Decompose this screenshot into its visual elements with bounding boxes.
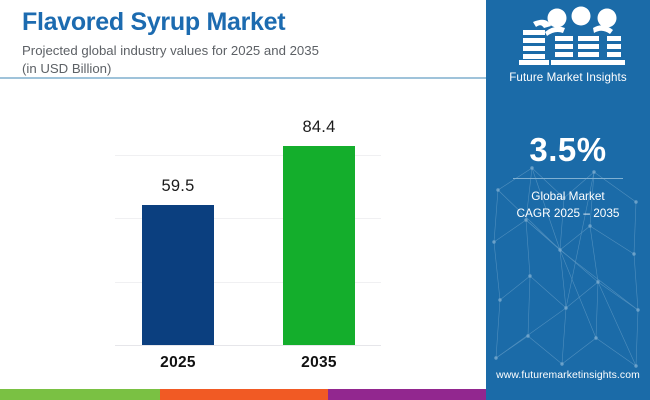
fmi-logo: Future Market Insights [486,6,650,84]
bar-label-2035: 2035 [283,354,355,372]
footer-segment-green [0,389,160,400]
cagr-caption-line-1: Global Market [486,188,650,205]
footer-segment-orange [160,389,328,400]
footer-color-bar [0,389,650,400]
footer-segment-purple [328,389,486,400]
cagr-value: 3.5% [486,133,650,166]
cagr-block: 3.5% Global Market CAGR 2025 – 2035 [486,133,650,222]
chart-baseline [115,345,381,346]
footer-segment-blue [486,389,650,400]
website-url[interactable]: www.futuremarketinsights.com [486,370,650,381]
cagr-divider [513,178,623,179]
left-panel: Flavored Syrup Market Projected global i… [0,0,486,389]
fmi-logo-icon [507,6,629,68]
cagr-caption-line-2: CAGR 2025 – 2035 [486,205,650,222]
bar-label-2025: 2025 [142,354,214,372]
fmi-logo-wordmark: Future Market Insights [486,71,650,84]
bar-group-2025: 59.5 2025 [142,205,214,345]
header: Flavored Syrup Market Projected global i… [22,8,472,77]
page-subtitle: Projected global industry values for 202… [22,42,472,77]
infographic-root: Flavored Syrup Market Projected global i… [0,0,650,400]
bar-2025[interactable] [142,205,214,345]
subtitle-line-1: Projected global industry values for 202… [22,42,472,60]
subtitle-line-2: (in USD Billion) [22,60,472,78]
sidebar: Future Market Insights 3.5% Global Marke… [486,0,650,389]
bar-group-2035: 84.4 2035 [283,146,355,345]
bar-chart: 59.5 2025 84.4 2035 [0,79,486,389]
bar-value-2025: 59.5 [142,177,214,196]
page-title: Flavored Syrup Market [22,8,472,36]
bar-value-2035: 84.4 [283,118,355,137]
cagr-caption: Global Market CAGR 2025 – 2035 [486,188,650,222]
bar-2035[interactable] [283,146,355,345]
